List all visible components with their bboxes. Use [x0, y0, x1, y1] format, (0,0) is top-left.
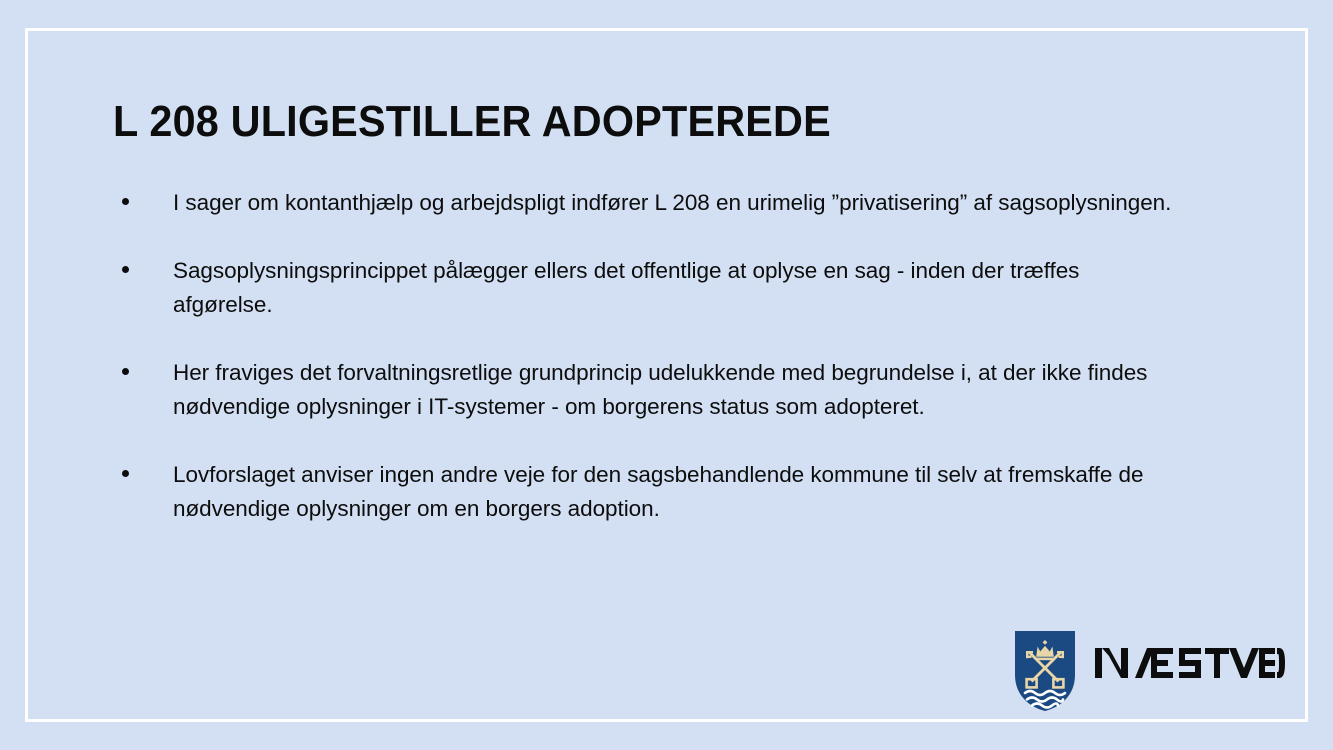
list-item-text: I sager om kontanthjælp og arbejdspligt … [173, 186, 1173, 220]
list-item-text: Lovforslaget anviser ingen andre veje fo… [173, 458, 1173, 526]
page-title: L 208 ULIGESTILLER ADOPTEREDE [113, 96, 831, 148]
bullet-dot-icon [122, 198, 129, 205]
naestved-shield-icon [1013, 629, 1077, 713]
bullet-list: I sager om kontanthjælp og arbejdspligt … [113, 186, 1173, 526]
list-item-text: Her fraviges det forvaltningsretlige gru… [173, 356, 1173, 424]
bullet-dot-icon [122, 368, 129, 375]
bullet-dot-icon [122, 266, 129, 273]
list-item: Lovforslaget anviser ingen andre veje fo… [113, 458, 1173, 526]
naestved-wordmark [1095, 640, 1285, 686]
bullet-dot-icon [122, 470, 129, 477]
list-item-text: Sagsoplysningsprincippet pålægger ellers… [173, 254, 1173, 322]
list-item: Her fraviges det forvaltningsretlige gru… [113, 356, 1173, 424]
naestved-logo [1013, 629, 1285, 713]
list-item: I sager om kontanthjælp og arbejdspligt … [113, 186, 1173, 220]
list-item: Sagsoplysningsprincippet pålægger ellers… [113, 254, 1173, 322]
slide-canvas: L 208 ULIGESTILLER ADOPTEREDE I sager om… [0, 0, 1333, 750]
